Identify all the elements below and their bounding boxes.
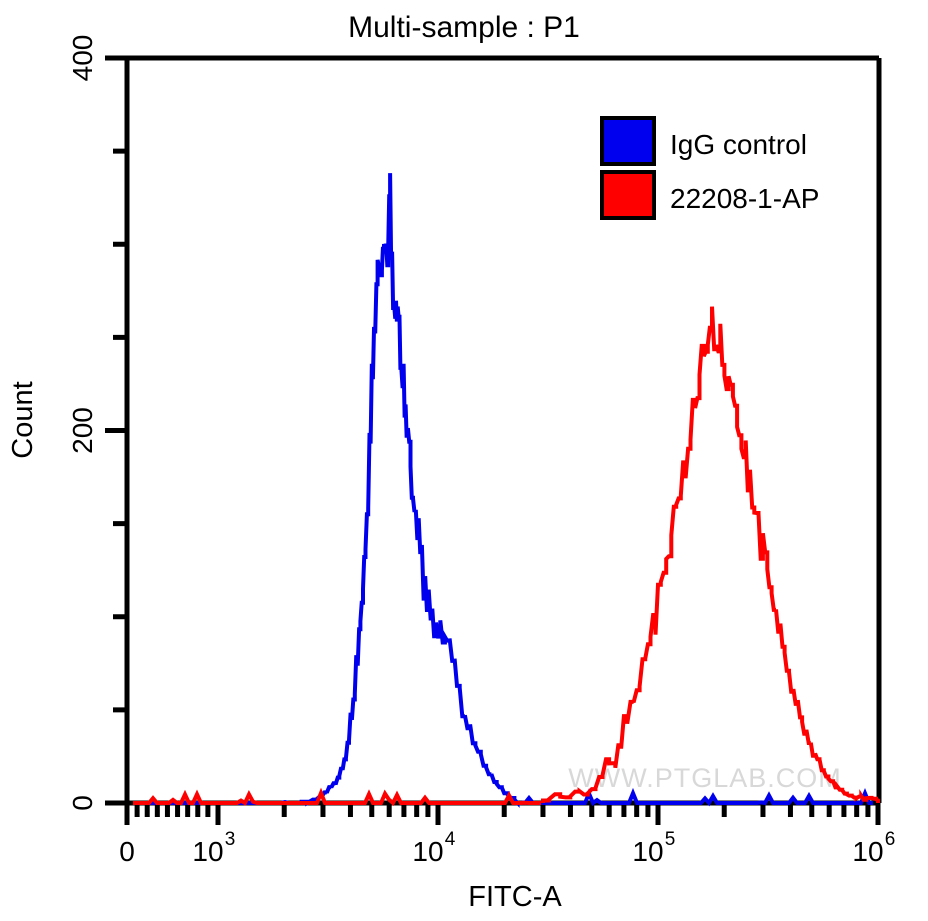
legend-swatch [602, 118, 654, 164]
plot-title: Multi-sample : P1 [348, 11, 580, 44]
x-tick-exponent: 6 [885, 829, 896, 850]
x-tick-label: 10 [412, 836, 443, 867]
legend-label: 22208-1-AP [670, 183, 819, 214]
legend-label: IgG control [670, 129, 807, 160]
x-tick-label: 10 [192, 836, 223, 867]
x-tick-label: 10 [852, 836, 883, 867]
x-tick-label: 10 [632, 836, 663, 867]
legend-swatch [602, 172, 654, 218]
x-tick-label: 0 [119, 836, 135, 867]
y-tick-label: 0 [67, 795, 98, 811]
x-tick-exponent: 3 [225, 829, 236, 850]
y-axis-label: Count [7, 381, 39, 458]
x-axis-label: FITC-A [468, 881, 562, 913]
x-tick-exponent: 4 [445, 829, 456, 850]
flow-cytometry-histogram: Multi-sample : P1 WWW.PTGLAB.COM 0103104… [0, 0, 928, 921]
chart-canvas: Multi-sample : P1 WWW.PTGLAB.COM 0103104… [0, 0, 928, 921]
watermark-text: WWW.PTGLAB.COM [568, 763, 842, 793]
y-tick-label: 400 [67, 35, 98, 82]
y-tick-label: 200 [67, 407, 98, 454]
x-tick-exponent: 5 [665, 829, 676, 850]
